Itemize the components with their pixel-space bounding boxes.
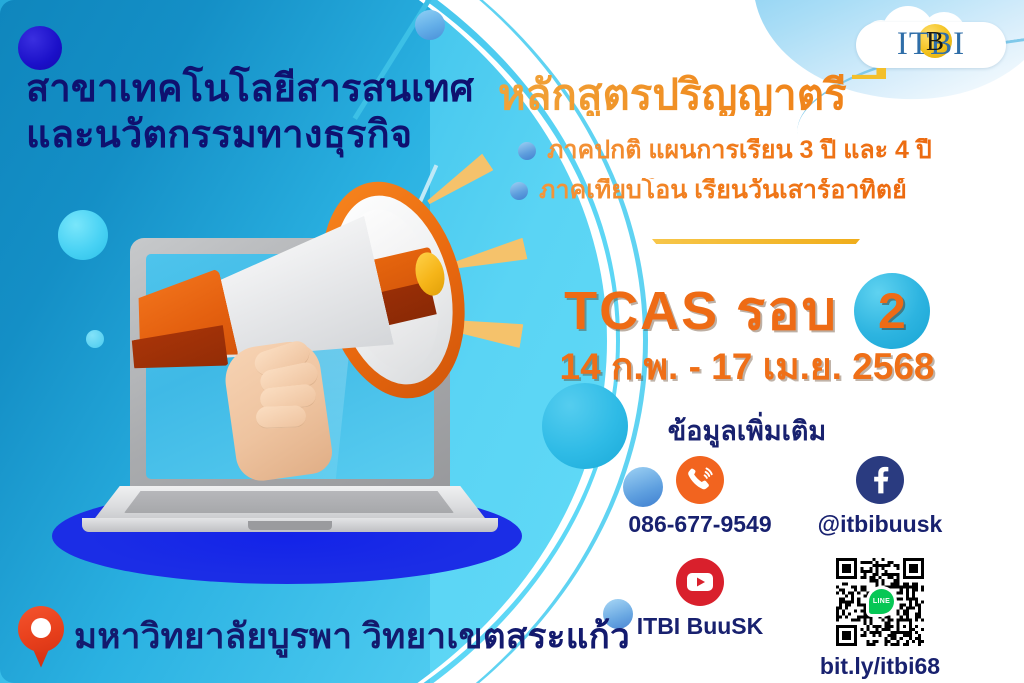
itbi-logo: ITBI B bbox=[856, 6, 1006, 78]
hand-finger-4 bbox=[256, 405, 307, 429]
decor-circle-blue-top bbox=[415, 10, 445, 40]
decor-circle-navy bbox=[18, 26, 62, 70]
contact-item-facebook[interactable]: @itbibuusk bbox=[790, 456, 970, 536]
location-banner: มหาวิทยาลัยบูรพา วิทยาเขตสระแก้ว bbox=[0, 590, 640, 683]
line-url-label: bit.ly/itbi68 bbox=[820, 655, 940, 678]
facebook-handle-label: @itbibuusk bbox=[818, 513, 943, 536]
megaphone-icon bbox=[126, 160, 486, 450]
bullet-dot-icon bbox=[510, 182, 528, 200]
contact-row-1: 086-677-9549 @itbibuusk bbox=[610, 456, 1024, 536]
divider bbox=[652, 239, 860, 244]
line-logo-label: LINE bbox=[873, 598, 890, 605]
tcas-label: TCAS รอบ bbox=[564, 284, 838, 338]
tcas-heading: TCAS รอบ 2 bbox=[470, 273, 1024, 349]
page-title-line-2: และนวัตกรรมทางธุรกิจ bbox=[26, 112, 466, 158]
map-pin-icon bbox=[18, 606, 64, 668]
line-logo-icon: LINE bbox=[869, 589, 894, 614]
bullet-dot-icon bbox=[518, 142, 536, 160]
program-bullet-2-label: ภาคเทียบโอน เรียนวันเสาร์อาทิตย์ bbox=[539, 178, 907, 203]
youtube-icon[interactable] bbox=[676, 558, 724, 606]
youtube-channel-label: ITBI BuuSK bbox=[637, 615, 764, 638]
phone-number-label: 086-677-9549 bbox=[628, 513, 771, 536]
phone-icon[interactable] bbox=[676, 456, 724, 504]
page-title-line-1: สาขาเทคโนโลยีสารสนเทศ bbox=[26, 66, 466, 112]
logo-accent-mark bbox=[852, 68, 886, 79]
qr-code-icon[interactable]: LINE bbox=[836, 558, 924, 646]
degree-title: หลักสูตรปริญญาตรี bbox=[498, 74, 998, 116]
program-bullet-2: ภาคเทียบโอน เรียนวันเสาร์อาทิตย์ bbox=[510, 178, 907, 203]
poster-canvas: สาขาเทคโนโลยีสารสนเทศ และนวัตกรรมทางธุรก… bbox=[0, 0, 1024, 683]
program-bullet-1-label: ภาคปกติ แผนการเรียน 3 ปี และ 4 ปี bbox=[547, 138, 932, 163]
program-bullet-1: ภาคปกติ แผนการเรียน 3 ปี และ 4 ปี bbox=[518, 138, 932, 163]
tcas-round-badge: 2 bbox=[854, 273, 930, 349]
contact-grid: 086-677-9549 @itbibuusk bbox=[610, 456, 1024, 678]
contact-item-phone[interactable]: 086-677-9549 bbox=[610, 456, 790, 536]
laptop-keyboard-area bbox=[124, 491, 454, 513]
tcas-date-range: 14 ก.พ. - 17 เม.ย. 2568 bbox=[470, 348, 1024, 385]
laptop-trackpad bbox=[248, 521, 332, 530]
campus-name-label: มหาวิทยาลัยบูรพา วิทยาเขตสระแก้ว bbox=[74, 619, 630, 654]
right-content-column: หลักสูตรปริญญาตรี ภาคปกติ แผนการเรียน 3 … bbox=[470, 0, 1024, 683]
contact-item-line-qr[interactable]: LINE bit.ly/itbi68 bbox=[790, 558, 970, 678]
page-title: สาขาเทคโนโลยีสารสนเทศ และนวัตกรรมทางธุรก… bbox=[26, 66, 466, 159]
contact-heading: ข้อมูลเพิ่มเติม bbox=[470, 418, 1024, 445]
tcas-round-number: 2 bbox=[878, 286, 906, 336]
facebook-icon[interactable] bbox=[856, 456, 904, 504]
logo-letter-b: B bbox=[918, 24, 952, 58]
contact-row-2: ITBI BuuSK LINE bit.ly/itbi68 bbox=[610, 558, 1024, 678]
